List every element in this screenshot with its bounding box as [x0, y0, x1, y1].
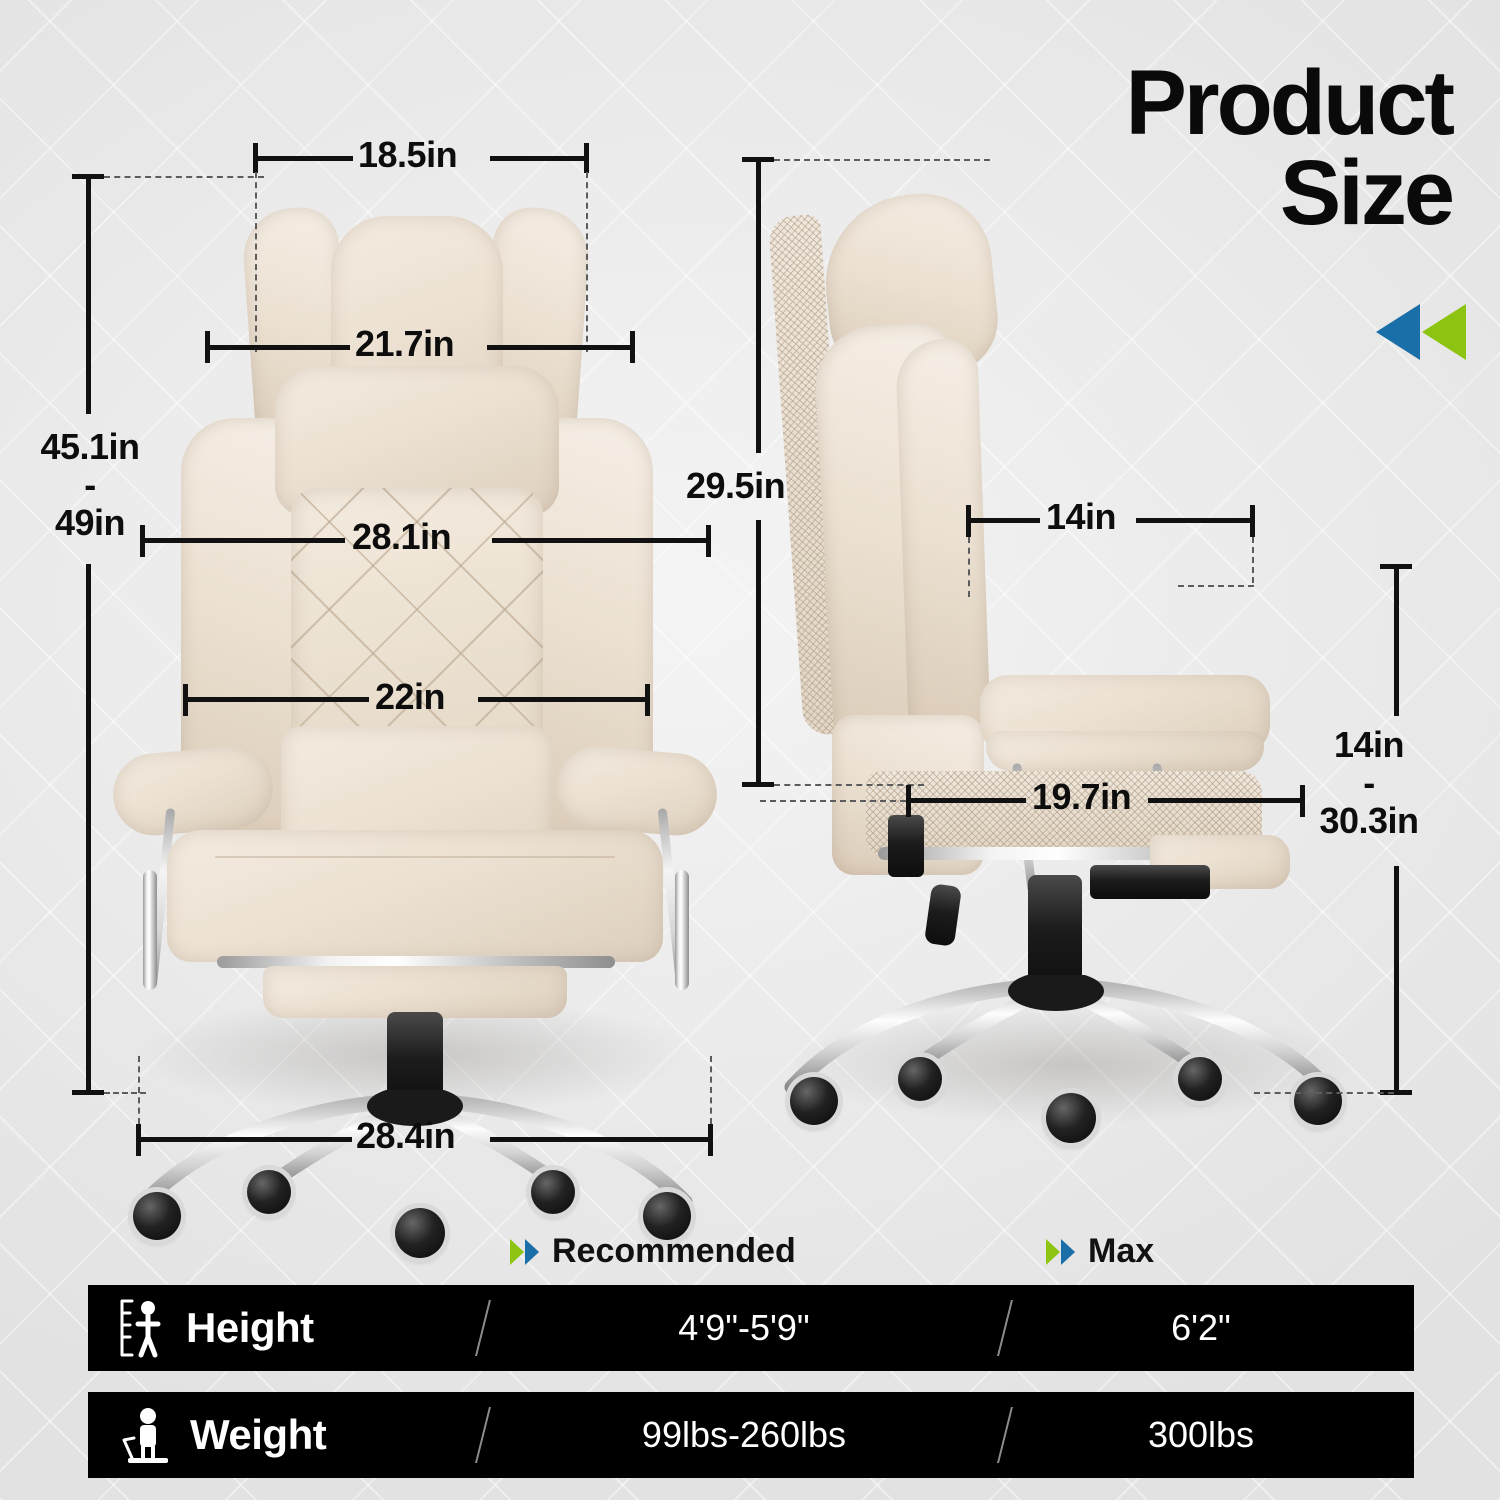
dimension-label-seat-height-range: 14in - 30.3in: [1294, 726, 1444, 840]
armrest-frame-right: [675, 870, 689, 990]
double-chevron-right-icon: [1044, 1237, 1078, 1267]
title-line-1: Product: [1125, 52, 1452, 154]
dimension-label-seat-depth: 19.7in: [1032, 776, 1131, 818]
seat-height-line-1: 14in: [1334, 724, 1404, 765]
row-label-height: Height: [88, 1297, 482, 1359]
height-recommended-value: 4'9"-5'9": [484, 1307, 1004, 1349]
office-chair-side-view: [760, 175, 1380, 1125]
retractable-footrest: [263, 966, 567, 1018]
height-adjust-lever: [924, 883, 962, 947]
tilt-mechanism: [1090, 865, 1210, 899]
office-chair-front-view: [95, 170, 735, 1120]
caster-wheel: [395, 1208, 445, 1258]
column-header-recommended: Recommended: [508, 1232, 796, 1271]
overall-height-line-3: 49in: [55, 502, 125, 543]
dimension-label-base-width: 28.4in: [356, 1115, 455, 1157]
weight-max-value: 300lbs: [1006, 1414, 1396, 1456]
dimension-label-overall-width: 28.1in: [352, 516, 451, 558]
caster-wheel: [1046, 1093, 1096, 1143]
caster-wheel: [247, 1170, 291, 1214]
column-header-max: Max: [1044, 1232, 1154, 1271]
dimension-label-backrest-width: 21.7in: [355, 323, 454, 365]
column-header-max-label: Max: [1088, 1232, 1154, 1271]
dimension-label-seat-width: 22in: [375, 676, 445, 718]
height-person-ruler-icon: [118, 1297, 170, 1359]
armrest-side-lower: [986, 731, 1264, 771]
backrest-side-wing: [895, 338, 991, 741]
product-size-infographic: Product Size: [0, 0, 1500, 1500]
dimension-label-headrest-width: 18.5in: [358, 134, 457, 176]
dimension-label-backrest-height: 29.5in: [686, 465, 785, 507]
row-label-weight-text: Weight: [190, 1411, 326, 1459]
row-label-height-text: Height: [186, 1304, 314, 1352]
row-label-weight: Weight: [88, 1404, 482, 1466]
table-row: Weight 99lbs-260lbs 300lbs: [88, 1392, 1414, 1478]
seat-stitching: [215, 856, 615, 858]
recline-lever: [888, 815, 924, 877]
dimension-label-overall-height: 45.1in - 49in: [28, 428, 152, 542]
caster-wheel: [898, 1057, 942, 1101]
armrest-frame-left: [143, 870, 157, 990]
weight-person-scale-icon: [118, 1404, 174, 1466]
caster-wheel: [1178, 1057, 1222, 1101]
caster-wheel: [133, 1192, 181, 1240]
seat-height-line-3: 30.3in: [1319, 800, 1418, 841]
seat-cushion: [167, 830, 663, 962]
overall-height-line-2: -: [84, 464, 96, 505]
caster-wheel: [1294, 1077, 1342, 1125]
column-header-recommended-label: Recommended: [552, 1232, 796, 1271]
double-chevron-right-icon: [508, 1237, 542, 1267]
caster-wheel: [531, 1170, 575, 1214]
dimension-label-armrest-length: 14in: [1046, 496, 1116, 538]
overall-height-line-1: 45.1in: [40, 426, 139, 467]
weight-recommended-value: 99lbs-260lbs: [484, 1414, 1004, 1456]
table-row: Height 4'9"-5'9" 6'2": [88, 1285, 1414, 1371]
caster-wheel: [790, 1077, 838, 1125]
seat-height-line-2: -: [1363, 762, 1375, 803]
height-max-value: 6'2": [1006, 1307, 1396, 1349]
